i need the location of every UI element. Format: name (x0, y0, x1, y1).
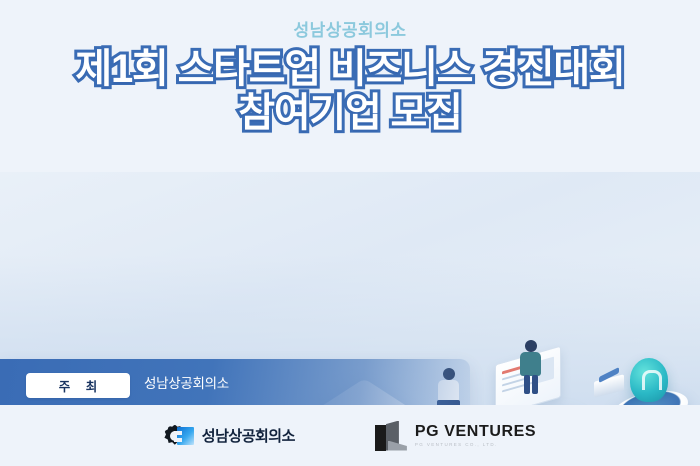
footer-logos: 성남상공회의소 PG VENTURES PG VENTURES CO., LTD… (0, 405, 700, 466)
info-row-host: 주 최 성남상공회의소 (26, 373, 377, 398)
title-line-2: 참여기업 모집 (0, 91, 700, 136)
pg-logo-text: PG VENTURES PG VENTURES CO., LTD. (415, 424, 536, 448)
books-stack-icon (594, 374, 624, 397)
scci-logo-text: 성남상공회의소 (202, 425, 295, 446)
title-line-1: 제1회 스타트업 비즈니스 경진대회 (0, 47, 700, 92)
illustration-band: 주 최 성남상공회의소 공고 및 접수기간 2025.05.26.(월) ~ 0… (0, 172, 700, 405)
lightbulb-icon (630, 358, 668, 402)
pg-logo-subtitle: PG VENTURES CO., LTD. (415, 443, 536, 448)
scci-emblem-icon (164, 424, 194, 448)
label-host: 주 최 (26, 373, 130, 398)
page-title: 제1회 스타트업 비즈니스 경진대회 참여기업 모집 (0, 41, 700, 137)
poster-header: 성남상공회의소 제1회 스타트업 비즈니스 경진대회 참여기업 모집 (0, 0, 700, 172)
value-host: 성남상공회의소 (144, 373, 229, 395)
info-rows: 주 최 성남상공회의소 공고 및 접수기간 2025.05.26.(월) ~ 0… (26, 373, 377, 405)
organizer-eyebrow: 성남상공회의소 (0, 0, 700, 41)
logo-pg-ventures: PG VENTURES PG VENTURES CO., LTD. (373, 421, 536, 451)
pg-ventures-building-icon (373, 421, 407, 451)
pg-logo-title: PG VENTURES (415, 424, 536, 440)
info-panel: 주 최 성남상공회의소 공고 및 접수기간 2025.05.26.(월) ~ 0… (0, 359, 470, 405)
poster: 성남상공회의소 제1회 스타트업 비즈니스 경진대회 참여기업 모집 (0, 0, 700, 466)
logo-scci: 성남상공회의소 (164, 424, 295, 448)
